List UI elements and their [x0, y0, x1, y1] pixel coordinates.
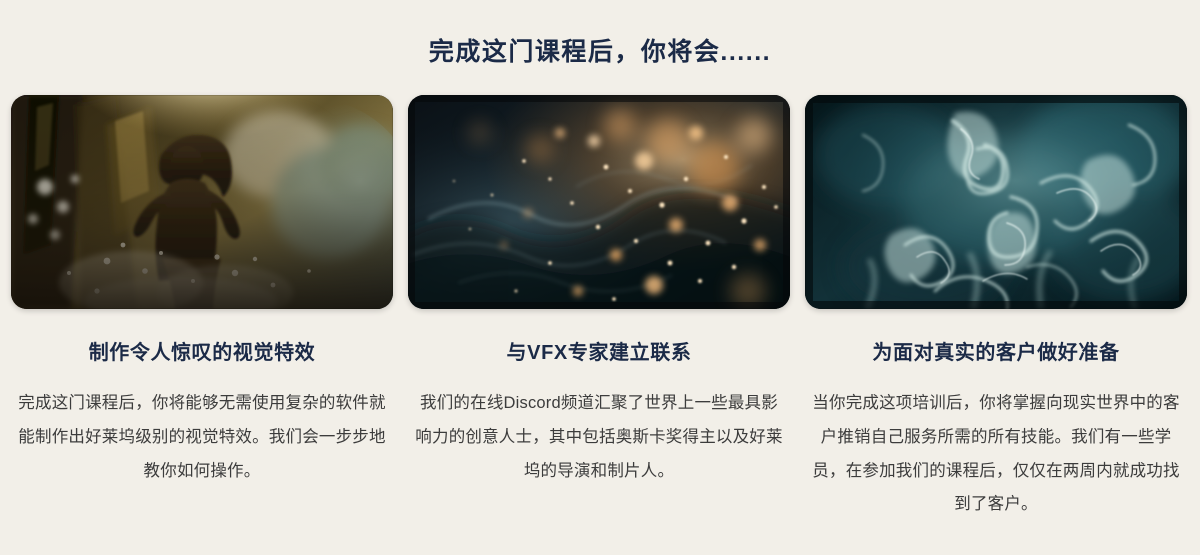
card-title: 与VFX专家建立联系	[507, 341, 692, 365]
card-body: 我们的在线Discord频道汇聚了世界上一些最具影响力的创意人士，其中包括奥斯卡…	[413, 387, 785, 488]
benefit-card-vfx-create: 制作令人惊叹的视觉特效 完成这门课程后，你将能够无需使用复杂的软件就能制作出好莱…	[11, 95, 393, 522]
card-body: 完成这门课程后，你将能够无需使用复杂的软件就能制作出好莱坞级别的视觉特效。我们会…	[16, 387, 388, 488]
card-image-runner-in-water-golden-light	[11, 95, 393, 309]
card-body: 当你完成这项培训后，你将掌握向现实世界中的客户推销自己服务所需的所有技能。我们有…	[810, 387, 1182, 522]
benefit-card-vfx-network: 与VFX专家建立联系 我们的在线Discord频道汇聚了世界上一些最具影响力的创…	[408, 95, 790, 522]
card-image-golden-particles-over-dark-waves	[408, 95, 790, 309]
benefit-card-vfx-clients: 为面对真实的客户做好准备 当你完成这项培训后，你将掌握向现实世界中的客户推销自己…	[805, 95, 1187, 522]
card-title: 为面对真实的客户做好准备	[872, 341, 1119, 365]
benefit-card-grid: 制作令人惊叹的视觉特效 完成这门课程后，你将能够无需使用复杂的软件就能制作出好莱…	[11, 95, 1189, 522]
card-image-teal-smoke-swirls	[805, 95, 1187, 309]
page-title: 完成这门课程后，你将会......	[0, 32, 1200, 68]
card-title: 制作令人惊叹的视觉特效	[89, 341, 316, 365]
